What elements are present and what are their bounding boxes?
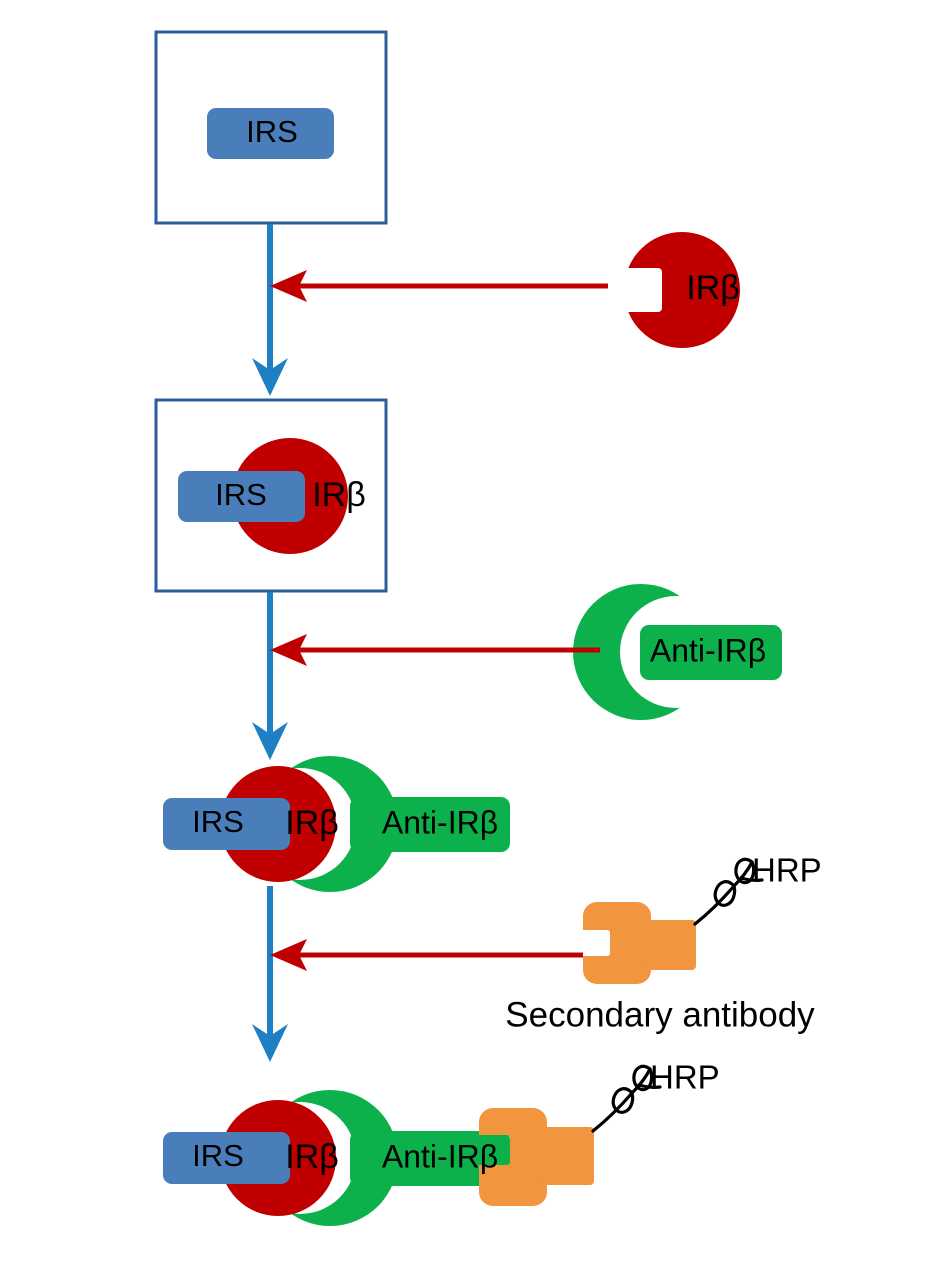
hrp-label-reagent: HRP [752,852,822,889]
step-3-complex: IRS IRβ Anti-IRβ [163,740,540,920]
reagent-arrow-1 [270,270,608,302]
reagent-secondary-antibody: HRP Secondary antibody [505,852,821,1035]
elisa-diagram: IRS IRβ IRS IRβ [0,0,934,1272]
anti-irb-label-step3: Anti-IRβ [382,804,498,840]
secondary-antibody-label: Secondary antibody [505,995,815,1034]
anti-irb-label-reagent: Anti-IRβ [650,632,766,668]
reagent-irb: IRβ [612,232,740,348]
irb-label-reagent: IRβ [686,269,740,307]
irb-label-step4: IRβ [285,1138,339,1176]
secondary-antibody-stem-final [538,1127,594,1185]
secondary-antibody-stem-reagent [640,920,696,970]
reagent-anti-irb: Anti-IRβ [540,570,840,750]
anti-irb-label-step4: Anti-IRβ [382,1138,498,1174]
step-2-well: IRS IRβ [156,400,386,591]
step-4-complex: IRS IRβ Anti-IRβ HRP [163,1059,720,1260]
flow-arrow-2 [252,592,288,760]
flow-arrow-1 [252,224,288,396]
irs-label-step3: IRS [192,804,244,839]
diagram-canvas: IRS IRβ IRS IRβ [0,0,934,1272]
irb-label-step3: IRβ [285,804,339,842]
reagent-arrow-3 [270,939,583,971]
irs-label-step1: IRS [246,114,298,149]
irs-label-step2: IRS [215,477,267,512]
step-1-well: IRS [156,32,386,223]
irb-notch-reagent [612,268,662,312]
irs-label-step4: IRS [192,1138,244,1173]
hrp-label-final: HRP [650,1059,720,1096]
irb-label-step2: IRβ [312,476,366,514]
